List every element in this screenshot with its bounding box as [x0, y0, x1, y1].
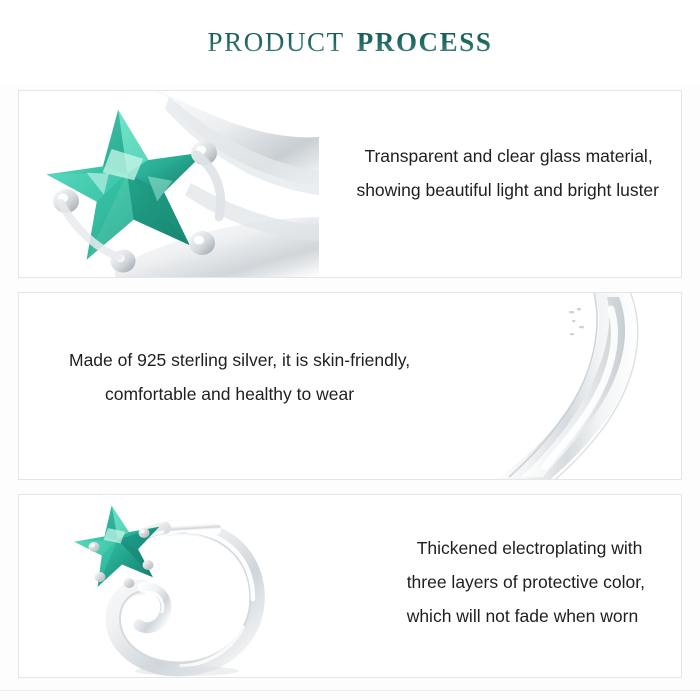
feature-text-1: Transparent and clear glass material, sh…: [356, 139, 659, 207]
page-header: PRODUCTPROCESS: [0, 0, 700, 84]
page-title-light: PRODUCT: [208, 27, 345, 57]
page-title-bold: PROCESS: [357, 27, 493, 57]
star-gem-closeup-image: [19, 91, 319, 277]
feature-1-line-1: Transparent and clear glass material,: [364, 139, 659, 173]
feature-3-line-3: which will not fade when worn: [407, 599, 645, 633]
full-ring-with-star-gem-image: [47, 495, 317, 677]
feature-panel-2: Made of 925 sterling silver, it is skin-…: [18, 292, 682, 480]
feature-3-line-1: Thickened electroplating with: [417, 531, 645, 565]
feature-3-line-2: three layers of protective color,: [407, 565, 645, 599]
silver-band-closeup-image: [451, 293, 681, 479]
feature-1-line-2: showing beautiful light and bright luste…: [356, 173, 659, 207]
feature-2-line-2: comfortable and healthy to wear: [105, 377, 410, 411]
bottom-divider: [0, 690, 700, 691]
feature-text-2: Made of 925 sterling silver, it is skin-…: [69, 343, 410, 411]
feature-2-line-1: Made of 925 sterling silver, it is skin-…: [69, 343, 410, 377]
feature-text-3: Thickened electroplating with three laye…: [407, 531, 645, 633]
feature-panel-3: Thickened electroplating with three laye…: [18, 494, 682, 678]
page-title: PRODUCTPROCESS: [208, 27, 493, 58]
feature-panel-1: Transparent and clear glass material, sh…: [18, 90, 682, 278]
